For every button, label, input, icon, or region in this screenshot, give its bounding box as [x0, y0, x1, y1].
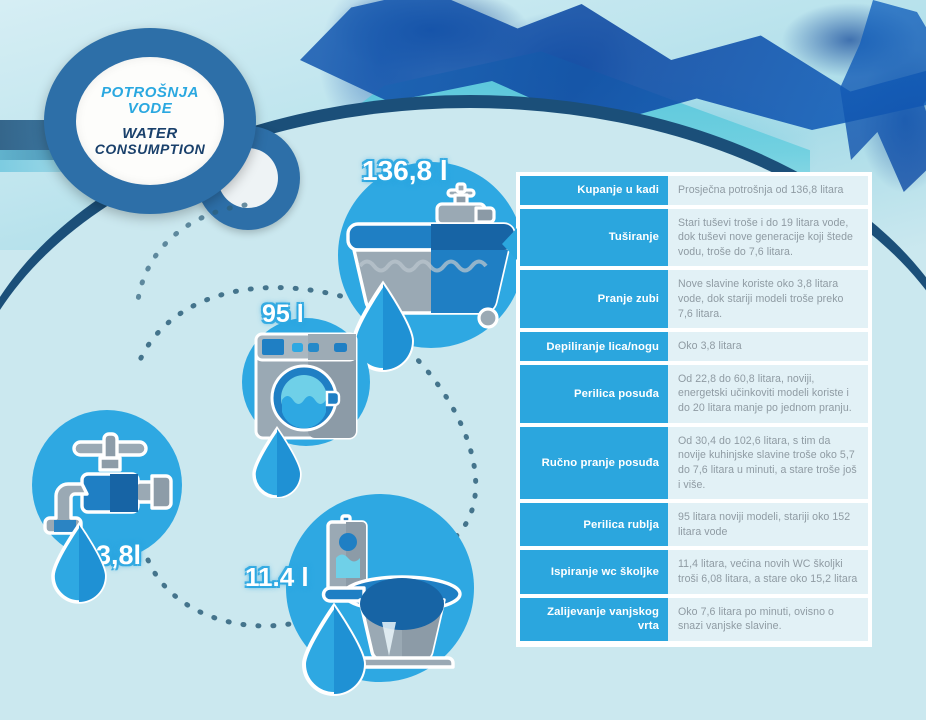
- table-row[interactable]: Perilica rublja 95 litara noviji modeli,…: [520, 503, 868, 546]
- water-drop-icon-faucet: [48, 520, 110, 604]
- row-description: Oko 7,6 litara po minuti, ovisno o snazi…: [668, 598, 868, 641]
- table-row[interactable]: Pranje zubi Nove slavine koriste oko 3,8…: [520, 270, 868, 328]
- value-bathtub: 136,8 l: [362, 155, 448, 187]
- table-row[interactable]: Ispiranje wc školjke 11,4 litara, većina…: [520, 550, 868, 593]
- table-row[interactable]: Zalijevanje vanjskog vrta Oko 7,6 litara…: [520, 598, 868, 641]
- title-en-line2: CONSUMPTION: [95, 142, 206, 157]
- value-toilet: 11.4 l: [245, 562, 309, 593]
- row-label: Perilica rublja: [520, 503, 668, 546]
- row-label: Kupanje u kadi: [520, 176, 668, 205]
- row-description: Od 30,4 do 102,6 litara, s tim da novije…: [668, 427, 868, 499]
- table-row[interactable]: Perilica posuđa Od 22,8 do 60,8 litara, …: [520, 365, 868, 423]
- title-hr-line1: POTROŠNJA: [101, 84, 199, 101]
- table-row[interactable]: Ručno pranje posuđa Od 30,4 do 102,6 lit…: [520, 427, 868, 499]
- table-row[interactable]: Depiliranje lica/nogu Oko 3,8 litara: [520, 332, 868, 361]
- title-badge: POTROŠNJA VODE WATER CONSUMPTION: [44, 28, 256, 214]
- row-label: Depiliranje lica/nogu: [520, 332, 668, 361]
- row-label: Ispiranje wc školjke: [520, 550, 668, 593]
- table-pointer-notch: [502, 228, 517, 260]
- row-description: Prosječna potrošnja od 136,8 litara: [668, 176, 868, 205]
- title-en-line1: WATER: [122, 125, 178, 142]
- row-label: Ručno pranje posuđa: [520, 427, 668, 499]
- title-hr-line2: VODE: [128, 100, 173, 117]
- infographic-canvas: POTROŠNJA VODE WATER CONSUMPTION: [0, 0, 926, 720]
- row-description: Stari tuševi troše i do 19 litara vode, …: [668, 209, 868, 267]
- value-washing-machine: 95 l: [262, 300, 304, 329]
- table-row[interactable]: Kupanje u kadi Prosječna potrošnja od 13…: [520, 176, 868, 205]
- row-description: Oko 3,8 litara: [668, 332, 868, 361]
- row-label: Pranje zubi: [520, 270, 668, 328]
- table-row[interactable]: Tuširanje Stari tuševi troše i do 19 lit…: [520, 209, 868, 267]
- title-english: WATER CONSUMPTION: [95, 126, 206, 157]
- row-description: 11,4 litara, većina novih WC školjki tro…: [668, 550, 868, 593]
- row-label: Zalijevanje vanjskog vrta: [520, 598, 668, 641]
- row-description: Nove slavine koriste oko 3,8 litara vode…: [668, 270, 868, 328]
- water-drop-icon-washing-machine: [250, 424, 304, 498]
- title-badge-inner: POTROŠNJA VODE WATER CONSUMPTION: [76, 57, 224, 185]
- row-description: Od 22,8 do 60,8 litara, noviji, energets…: [668, 365, 868, 423]
- title-croatian: POTROŠNJA VODE: [101, 85, 199, 117]
- row-label: Tuširanje: [520, 209, 668, 267]
- row-description: 95 litara noviji modeli, stariji oko 152…: [668, 503, 868, 546]
- row-label: Perilica posuđa: [520, 365, 668, 423]
- water-usage-table: Kupanje u kadi Prosječna potrošnja od 13…: [516, 172, 872, 647]
- water-drop-icon-toilet: [298, 600, 370, 696]
